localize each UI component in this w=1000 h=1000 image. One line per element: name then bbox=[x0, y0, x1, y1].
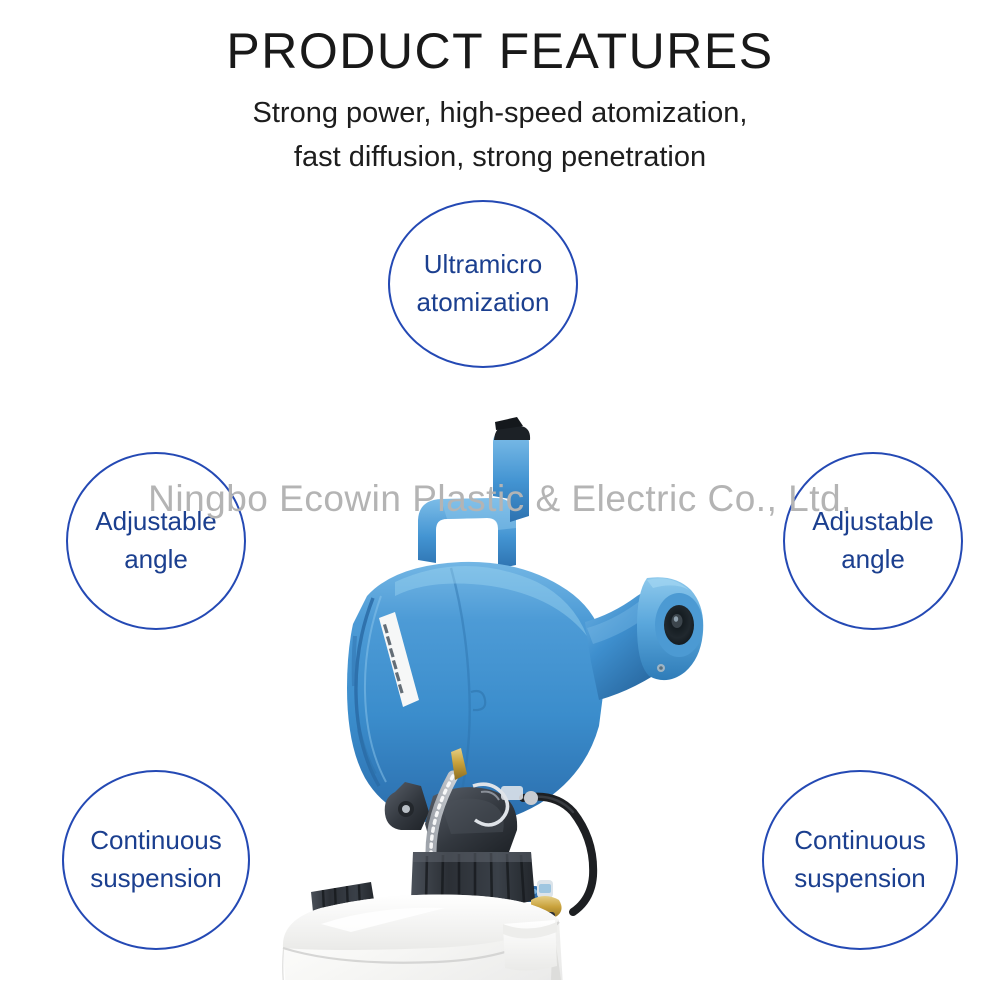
feature-bubble-adjustable-angle-right[interactable]: Adjustable angle bbox=[783, 452, 963, 630]
page-subtitle: Strong power, high-speed atomization, fa… bbox=[0, 78, 1000, 179]
feature-bubble-ultramicro-atomization[interactable]: Ultramicro atomization bbox=[388, 200, 578, 368]
product-features-page: PRODUCT FEATURES Strong power, high-spee… bbox=[0, 0, 1000, 1000]
header: PRODUCT FEATURES Strong power, high-spee… bbox=[0, 0, 1000, 179]
bubble-line-2: angle bbox=[124, 541, 188, 579]
bubble-line-2: atomization bbox=[417, 284, 550, 322]
product-image bbox=[255, 400, 755, 980]
spray-nozzle bbox=[637, 577, 703, 680]
feature-bubble-continuous-suspension-right[interactable]: Continuous suspension bbox=[762, 770, 958, 950]
bubble-line-1: Continuous bbox=[794, 822, 926, 860]
bubble-line-2: suspension bbox=[794, 860, 926, 898]
angle-mount-bracket bbox=[385, 782, 517, 852]
bubble-line-1: Ultramicro bbox=[424, 246, 542, 284]
bubble-line-1: Adjustable bbox=[812, 503, 933, 541]
bubble-line-1: Continuous bbox=[90, 822, 222, 860]
bubble-line-2: suspension bbox=[90, 860, 222, 898]
feature-bubble-continuous-suspension-left[interactable]: Continuous suspension bbox=[62, 770, 250, 950]
subtitle-line-2: fast diffusion, strong penetration bbox=[0, 136, 1000, 180]
bubble-line-1: Adjustable bbox=[95, 503, 216, 541]
page-title: PRODUCT FEATURES bbox=[0, 0, 1000, 78]
subtitle-line-1: Strong power, high-speed atomization, bbox=[0, 92, 1000, 136]
feature-bubble-adjustable-angle-left[interactable]: Adjustable angle bbox=[66, 452, 246, 630]
bubble-line-2: angle bbox=[841, 541, 905, 579]
carry-handle bbox=[418, 498, 516, 569]
